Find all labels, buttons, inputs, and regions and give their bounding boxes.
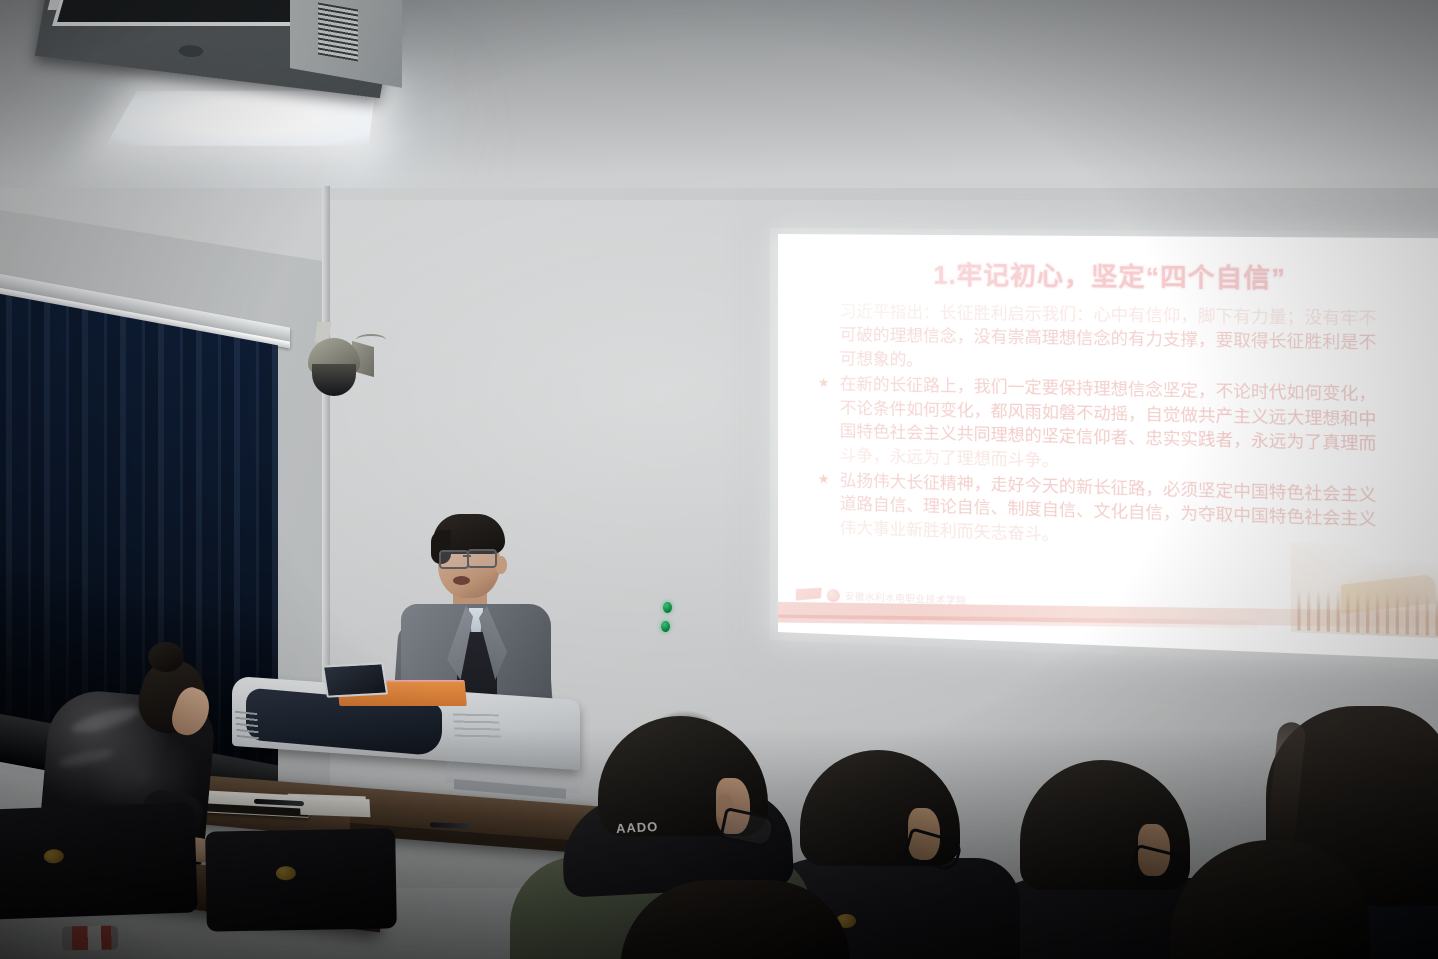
lectern-vent-icon bbox=[235, 711, 259, 740]
hair-bun bbox=[148, 642, 184, 672]
projector-vent-icon bbox=[318, 2, 358, 61]
lectern-vent-icon bbox=[453, 714, 501, 743]
glasses-icon bbox=[439, 550, 469, 569]
attendee-hair bbox=[1170, 840, 1370, 959]
slide-paragraph: 习近平指出：长征胜利启示我们：心中有信仰，脚下有力量；没有牢不 可破的理想信念，… bbox=[816, 300, 1427, 382]
chair-back bbox=[0, 802, 198, 919]
presentation-slide: 1.牢记初心，坚定“四个自信” 习近平指出：长征胜利启示我们：心中有信仰，脚下有… bbox=[778, 234, 1438, 660]
green-led-indicator bbox=[663, 602, 672, 613]
attendee-front-right bbox=[1170, 840, 1370, 959]
camera-dome-icon bbox=[312, 364, 356, 396]
projection-screen: 1.牢记初心，坚定“四个自信” 习近平指出：长征胜利启示我们：心中有信仰，脚下有… bbox=[778, 234, 1438, 660]
speaker-mouth bbox=[453, 576, 470, 585]
chair-stud-icon bbox=[276, 866, 296, 880]
attendee-hair bbox=[620, 880, 850, 959]
chair-back bbox=[205, 828, 397, 931]
wall-corner-edge bbox=[322, 186, 330, 746]
lecture-hall-scene: 1.牢记初心，坚定“四个自信” 习近平指出：长征胜利启示我们：心中有信仰，脚下有… bbox=[0, 0, 1438, 959]
dome-security-camera bbox=[298, 338, 370, 402]
slide-body: 习近平指出：长征胜利启示我们：心中有信仰，脚下有力量；没有牢不 可破的理想信念，… bbox=[816, 300, 1427, 561]
chair-stud-icon bbox=[44, 849, 64, 864]
glasses-bridge bbox=[463, 555, 471, 557]
seal-icon bbox=[827, 588, 840, 602]
flag-icon bbox=[796, 587, 822, 602]
slide-title: 1.牢记初心，坚定“四个自信” bbox=[778, 254, 1438, 298]
paper-sheet bbox=[300, 797, 371, 818]
projector-lens-icon bbox=[177, 44, 206, 58]
slide-paragraph: ★ 在新的长征路上，我们一定要保持理想信念坚定，不论时代如何变化， 不论条件如何… bbox=[816, 373, 1427, 483]
hood-brand-text: AADO bbox=[616, 819, 659, 836]
water-bottle bbox=[62, 926, 118, 951]
green-led-indicator bbox=[661, 621, 670, 632]
star-bullet-icon: ★ bbox=[818, 374, 830, 393]
glasses-icon bbox=[467, 549, 497, 568]
lectern-monitor[interactable] bbox=[322, 662, 388, 697]
attendee-front-center bbox=[620, 880, 850, 959]
star-bullet-icon: ★ bbox=[818, 470, 830, 489]
ceiling-light-panel bbox=[106, 91, 376, 146]
